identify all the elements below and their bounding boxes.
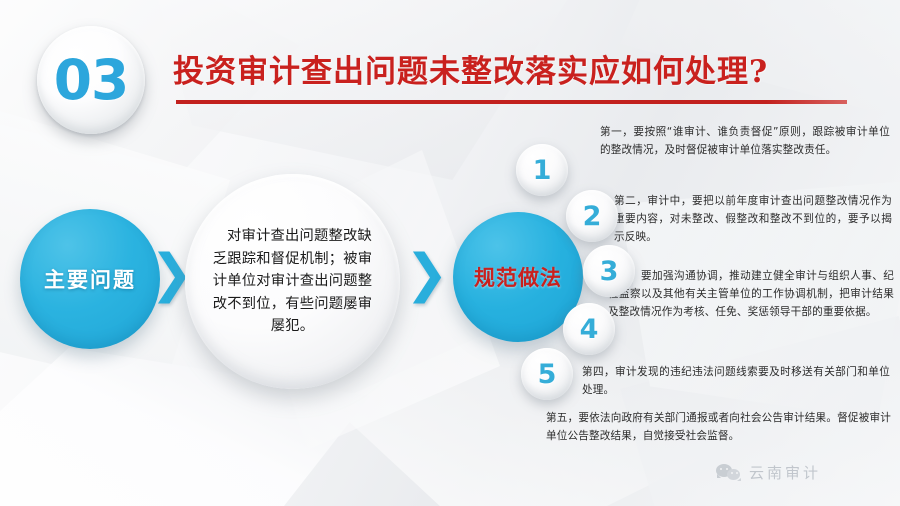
step-number-circle-1: 1 <box>516 144 568 196</box>
step-text-2: 第二，审计中，要把以前年度审计查出问题整改情况作为重要内容，对未整改、假整改和整… <box>614 193 892 246</box>
step-text-5: 第五，要依法向政府有关部门通报或者向社会公告审计结果。督促被审计单位公告整改结果… <box>546 410 891 446</box>
wechat-bubble-small-tail <box>737 478 741 481</box>
step-text-1: 第一，要按照“谁审计、谁负责督促”原则，跟踪被审计单位的整改情况，及时督促被审计… <box>600 124 890 160</box>
page-title: 投资审计查出问题未整改落实应如何处理? <box>173 46 768 91</box>
step-number-circle-5: 5 <box>521 348 573 400</box>
slide-canvas: 03 投资审计查出问题未整改落实应如何处理? 主要问题 ❯ 对审计查出问题整改缺… <box>0 0 900 506</box>
step-number-circle-2: 2 <box>566 190 618 242</box>
problem-statement-text: 对审计查出问题整改缺乏跟踪和督促机制；被审计单位对审计查出问题整改不到位，有些问… <box>207 225 378 338</box>
step-text-3: 第三，要加强沟通协调，推动建立健全审计与组织人事、纪检监察以及其他有关主管单位的… <box>608 268 894 321</box>
step-text-4: 第四，审计发现的违纪违法问题线索要及时移送有关部门和单位处理。 <box>582 364 890 400</box>
step-number-3: 3 <box>600 258 619 285</box>
watermark-label: 云南审计 <box>749 462 821 483</box>
node-problem-statement: 对审计查出问题整改缺乏跟踪和督促机制；被审计单位对审计查出问题整改不到位，有些问… <box>185 174 400 389</box>
step-number-circle-3: 3 <box>583 245 635 297</box>
section-number-text: 03 <box>54 53 129 108</box>
step-number-circle-4: 4 <box>563 303 615 355</box>
step-number-5: 5 <box>538 361 557 388</box>
title-underline-divider <box>176 100 847 104</box>
step-number-2: 2 <box>583 203 602 230</box>
section-number-badge: 03 <box>37 26 145 134</box>
node-best-practice-label: 规范做法 <box>474 262 562 292</box>
wechat-bubble-large-tail <box>717 474 721 478</box>
node-main-problem: 主要问题 <box>20 209 160 349</box>
wechat-icon <box>716 463 742 482</box>
node-main-problem-label: 主要问题 <box>44 264 136 294</box>
step-number-4: 4 <box>580 316 599 343</box>
chevron-right-icon: ❯ <box>405 248 449 300</box>
watermark: 云南审计 <box>716 462 821 483</box>
step-number-1: 1 <box>533 157 552 184</box>
wechat-dot <box>736 472 738 474</box>
